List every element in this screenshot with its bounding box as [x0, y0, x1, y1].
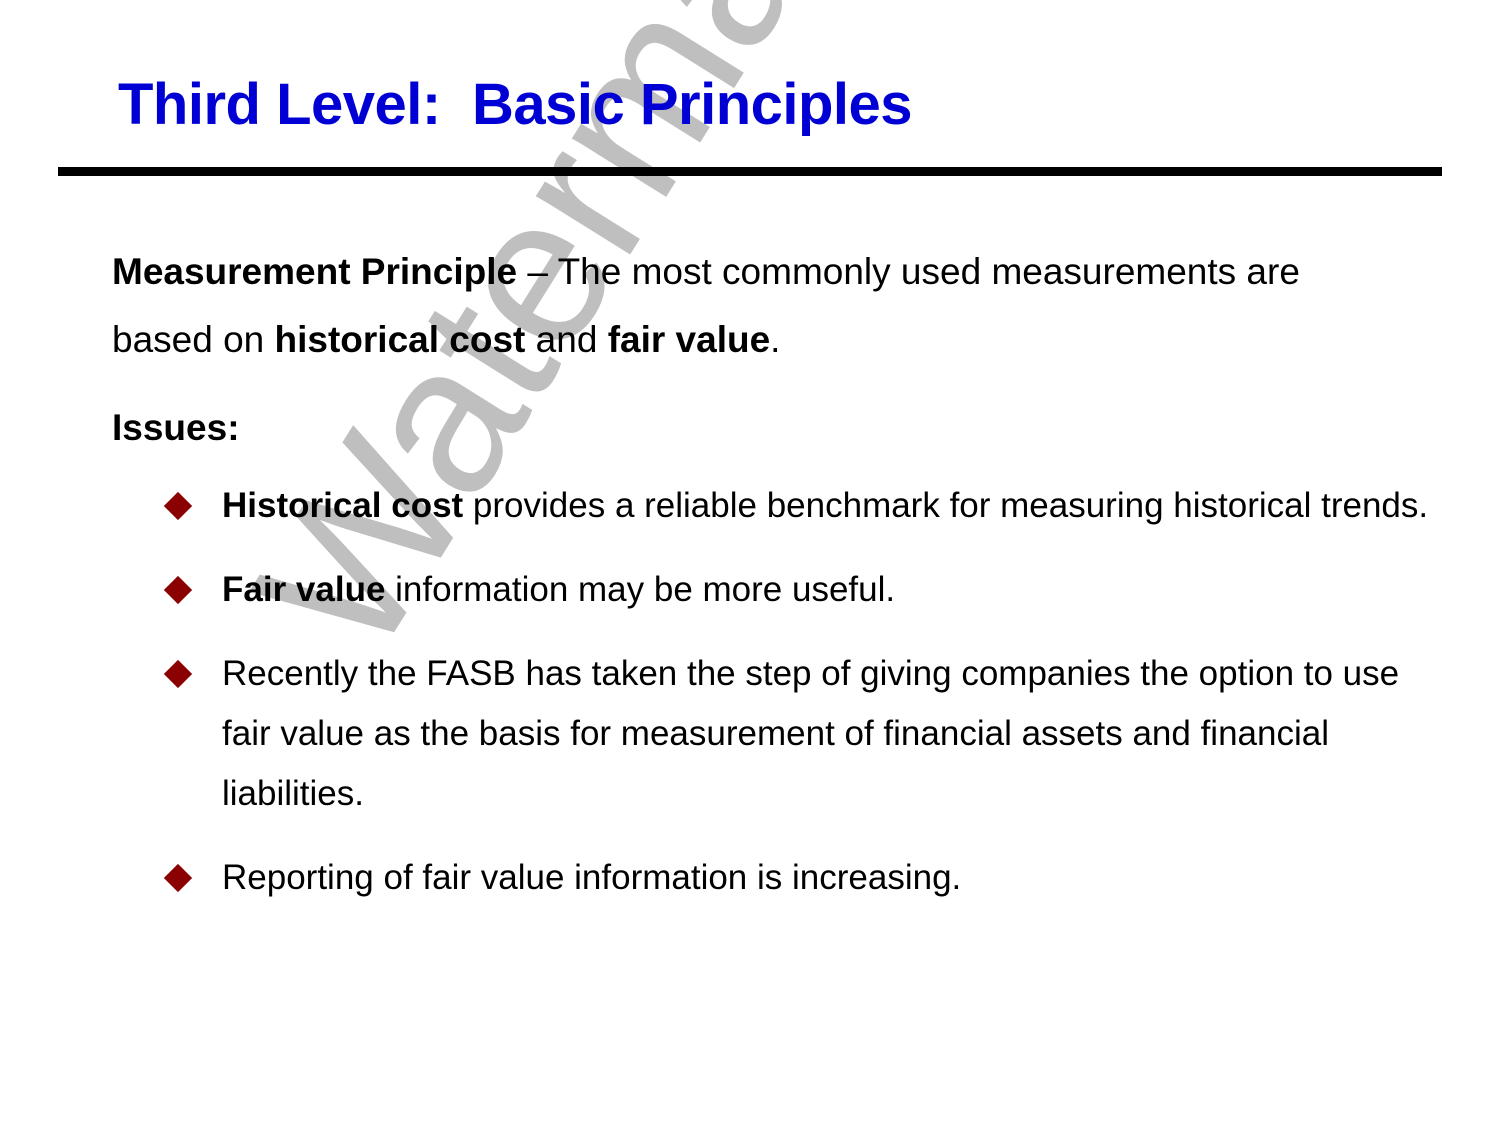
list-item-body: Fair value information may be more usefu…: [222, 560, 1432, 620]
diamond-bullet-icon: [164, 660, 192, 688]
measurement-principle-label: Measurement Principle: [112, 251, 517, 292]
list-item-body: Historical cost provides a reliable benc…: [222, 476, 1432, 536]
list-item-label: provides a reliable benchmark for measur…: [463, 486, 1428, 525]
slide-canvas: Watermark Third Level: Basic Principles …: [0, 0, 1500, 1125]
issues-heading: Issues:: [112, 394, 1432, 462]
fair-value-term: fair value: [608, 319, 770, 360]
measurement-principle-paragraph: Measurement Principle – The most commonl…: [112, 238, 1302, 374]
list-item: Reporting of fair value information is i…: [112, 848, 1432, 908]
list-item-body: Recently the FASB has taken the step of …: [222, 644, 1432, 824]
list-item: Recently the FASB has taken the step of …: [112, 644, 1432, 824]
slide-content: Third Level: Basic Principles Measuremen…: [0, 0, 1500, 1125]
list-item-label: information may be more useful.: [385, 570, 895, 609]
title-divider: [58, 167, 1442, 176]
diamond-bullet-icon: [164, 864, 192, 892]
measurement-principle-text-3: .: [770, 319, 780, 360]
list-item-bold-lead: Fair value: [222, 570, 385, 609]
measurement-principle-text-2: and: [525, 319, 607, 360]
historical-cost-term: historical cost: [275, 319, 526, 360]
diamond-bullet-icon: [164, 576, 192, 604]
body-content: Measurement Principle – The most commonl…: [112, 238, 1432, 932]
list-item-label: Reporting of fair value information is i…: [222, 858, 961, 897]
list-item: Fair value information may be more usefu…: [112, 560, 1432, 620]
list-item-label: Recently the FASB has taken the step of …: [222, 654, 1399, 813]
list-item-bold-lead: Historical cost: [222, 486, 463, 525]
diamond-bullet-icon: [164, 492, 192, 520]
issues-bullet-list: Historical cost provides a reliable benc…: [112, 476, 1432, 908]
list-item-body: Reporting of fair value information is i…: [222, 848, 1432, 908]
page-title: Third Level: Basic Principles: [118, 72, 1438, 138]
list-item: Historical cost provides a reliable benc…: [112, 476, 1432, 536]
